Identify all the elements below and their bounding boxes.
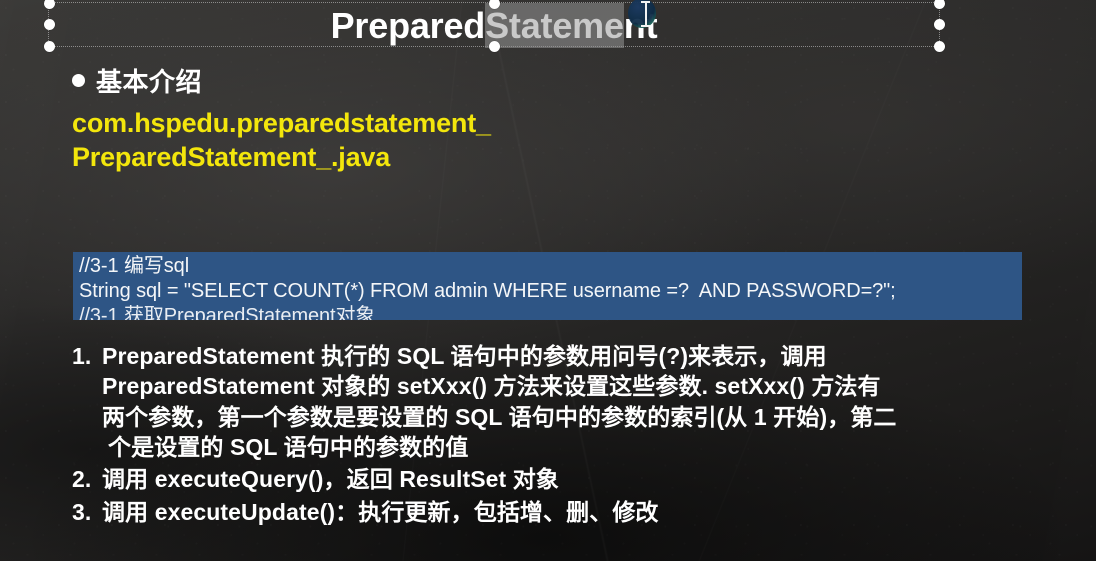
list-item-number: 2. [72, 464, 102, 494]
bullet-dot-icon [72, 74, 85, 87]
bullet-label: 基本介绍 [96, 62, 202, 99]
resize-handle-bottom-center[interactable] [489, 41, 500, 52]
list-item-line: 调用 executeQuery()，返回 ResultSet 对象 [102, 464, 1082, 494]
list-item-text: 调用 executeUpdate()：执行更新，包括增、删、修改 [102, 497, 1082, 527]
resize-handle-bottom-right[interactable] [934, 41, 945, 52]
list-item-line: 两个参数，第一个参数是要设置的 SQL 语句中的参数的索引(从 1 开始)，第二 [102, 402, 1082, 432]
resize-handle-middle-right[interactable] [934, 19, 945, 30]
code-line: String sql = "SELECT COUNT(*) FROM admin… [79, 279, 1016, 304]
list-item-text: PreparedStatement 执行的 SQL 语句中的参数用问号(?)来表… [102, 341, 1082, 462]
list-item: 3. 调用 executeUpdate()：执行更新，包括增、删、修改 [72, 497, 1082, 527]
intro-section: 基本介绍 com.hspedu.preparedstatement_ Prepa… [72, 62, 491, 175]
title-prefix: Prepared [331, 5, 485, 46]
code-snippet-block: //3-1 编写sql String sql = "SELECT COUNT(*… [73, 252, 1022, 320]
list-item: 1. PreparedStatement 执行的 SQL 语句中的参数用问号(?… [72, 341, 1082, 462]
slide-canvas: PreparedStatement 基本介绍 com.hspedu.prepar… [0, 0, 1096, 561]
resize-handle-top-center[interactable] [489, 0, 500, 9]
list-item-line: 个是设置的 SQL 语句中的参数的值 [102, 432, 1082, 462]
resize-handle-top-right[interactable] [934, 0, 945, 9]
bullet-row: 基本介绍 [72, 62, 491, 99]
text-ibeam-cursor-icon [641, 1, 650, 27]
code-line: //3-1 获取PreparedStatement对象 [79, 304, 1016, 320]
list-item-text: 调用 executeQuery()，返回 ResultSet 对象 [102, 464, 1082, 494]
code-line: //3-1 编写sql [79, 254, 1016, 279]
numbered-list: 1. PreparedStatement 执行的 SQL 语句中的参数用问号(?… [72, 341, 1082, 529]
title-textbox[interactable]: PreparedStatement [48, 2, 940, 47]
resize-handle-middle-left[interactable] [44, 19, 55, 30]
list-item-number: 3. [72, 497, 102, 527]
list-item: 2. 调用 executeQuery()，返回 ResultSet 对象 [72, 464, 1082, 494]
resize-handle-bottom-left[interactable] [44, 41, 55, 52]
resize-handle-top-left[interactable] [44, 0, 55, 9]
class-path: com.hspedu.preparedstatement_ PreparedSt… [72, 106, 491, 175]
class-path-line-1: com.hspedu.preparedstatement_ [72, 106, 491, 140]
list-item-line: PreparedStatement 对象的 setXxx() 方法来设置这些参数… [102, 371, 1082, 401]
page-title[interactable]: PreparedStatement [49, 3, 939, 46]
class-path-line-2: PreparedStatement_.java [72, 140, 491, 174]
list-item-number: 1. [72, 341, 102, 371]
list-item-line: 调用 executeUpdate()：执行更新，包括增、删、修改 [102, 497, 1082, 527]
list-item-line: PreparedStatement 执行的 SQL 语句中的参数用问号(?)来表… [102, 341, 1082, 371]
title-selected-text[interactable]: Stateme [485, 3, 624, 48]
